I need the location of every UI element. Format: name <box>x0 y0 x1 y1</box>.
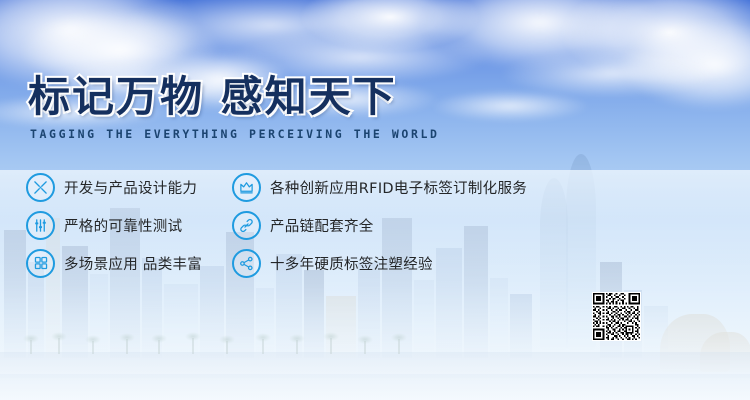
feature-item: 十多年硬质标签注塑经验 <box>232 244 586 282</box>
feature-list: 开发与产品设计能力 严格的可靠性测试 <box>26 168 586 282</box>
share-icon <box>232 249 261 278</box>
feature-label: 多场景应用 品类丰富 <box>64 253 202 274</box>
feature-column-right: 各种创新应用RFID电子标签订制化服务 产品链配套齐全 <box>232 168 586 282</box>
page-subtitle: TAGGING THE EVERYTHING PERCEIVING THE WO… <box>30 127 440 141</box>
promotional-banner: 标记万物 感知天下 TAGGING THE EVERYTHING PERCEIV… <box>0 0 750 400</box>
feature-label: 十多年硬质标签注塑经验 <box>270 253 433 274</box>
water-surface <box>0 374 750 400</box>
feature-item: 开发与产品设计能力 <box>26 168 232 206</box>
feature-label: 产品链配套齐全 <box>270 215 374 236</box>
feature-label: 开发与产品设计能力 <box>64 177 197 198</box>
feature-item: 各种创新应用RFID电子标签订制化服务 <box>232 168 586 206</box>
headline-block: 标记万物 感知天下 TAGGING THE EVERYTHING PERCEIV… <box>28 74 440 141</box>
page-title: 标记万物 感知天下 <box>28 74 440 119</box>
feature-item: 多场景应用 品类丰富 <box>26 244 232 282</box>
feature-item: 严格的可靠性测试 <box>26 206 232 244</box>
link-icon <box>232 211 261 240</box>
sliders-icon <box>26 211 55 240</box>
feature-column-left: 开发与产品设计能力 严格的可靠性测试 <box>26 168 232 282</box>
grid-icon <box>26 249 55 278</box>
waterfront-promenade <box>0 352 750 378</box>
tools-icon <box>26 173 55 202</box>
qr-code-matrix <box>593 293 640 340</box>
feature-item: 产品链配套齐全 <box>232 206 586 244</box>
feature-label: 严格的可靠性测试 <box>64 215 182 236</box>
feature-label: 各种创新应用RFID电子标签订制化服务 <box>270 177 527 198</box>
crown-icon <box>232 173 261 202</box>
qr-code-icon[interactable] <box>592 292 641 341</box>
